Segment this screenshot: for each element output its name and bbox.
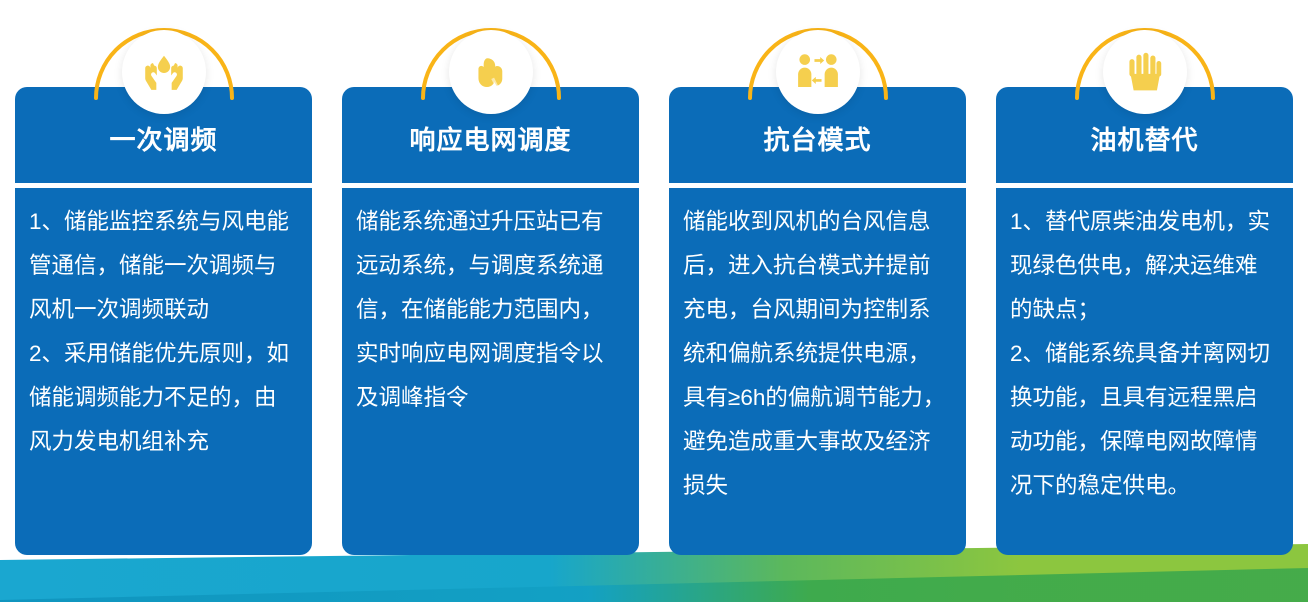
card-badge: [1065, 10, 1225, 150]
card-badge: [738, 10, 898, 150]
card-body-text: 1、储能监控系统与风电能管通信，储能一次调频与风机一次调频联动 2、采用储能优先…: [15, 188, 312, 555]
card-badge: [84, 10, 244, 150]
open-palm-hand-icon: [1103, 30, 1187, 114]
glove-mitten-icon: [449, 30, 533, 114]
feature-card-1[interactable]: 一次调频 1、储能监控系统与风电能管通信，储能一次调频与风机一次调频联动 2、采…: [0, 0, 327, 560]
hands-holding-droplet-icon: [122, 30, 206, 114]
card-panel: 响应电网调度 储能系统通过升压站已有远动系统，与调度系统通信，在储能能力范围内，…: [342, 87, 639, 555]
slide-canvas: 一次调频 1、储能监控系统与风电能管通信，储能一次调频与风机一次调频联动 2、采…: [0, 0, 1308, 602]
card-panel: 抗台模式 储能收到风机的台风信息后，进入抗台模式并提前充电，台风期间为控制系统和…: [669, 87, 966, 555]
card-body-text: 1、替代原柴油发电机，实现绿色供电，解决运维难的缺点； 2、储能系统具备并离网切…: [996, 188, 1293, 555]
card-body-text: 储能系统通过升压站已有远动系统，与调度系统通信，在储能能力范围内，实时响应电网调…: [342, 188, 639, 555]
card-badge: [411, 10, 571, 150]
people-exchange-icon: [776, 30, 860, 114]
feature-card-4[interactable]: 油机替代 1、替代原柴油发电机，实现绿色供电，解决运维难的缺点； 2、储能系统具…: [981, 0, 1308, 560]
card-panel: 一次调频 1、储能监控系统与风电能管通信，储能一次调频与风机一次调频联动 2、采…: [15, 87, 312, 555]
feature-card-row: 一次调频 1、储能监控系统与风电能管通信，储能一次调频与风机一次调频联动 2、采…: [0, 0, 1308, 560]
card-body-text: 储能收到风机的台风信息后，进入抗台模式并提前充电，台风期间为控制系统和偏航系统提…: [669, 188, 966, 555]
feature-card-3[interactable]: 抗台模式 储能收到风机的台风信息后，进入抗台模式并提前充电，台风期间为控制系统和…: [654, 0, 981, 560]
card-panel: 油机替代 1、替代原柴油发电机，实现绿色供电，解决运维难的缺点； 2、储能系统具…: [996, 87, 1293, 555]
feature-card-2[interactable]: 响应电网调度 储能系统通过升压站已有远动系统，与调度系统通信，在储能能力范围内，…: [327, 0, 654, 560]
